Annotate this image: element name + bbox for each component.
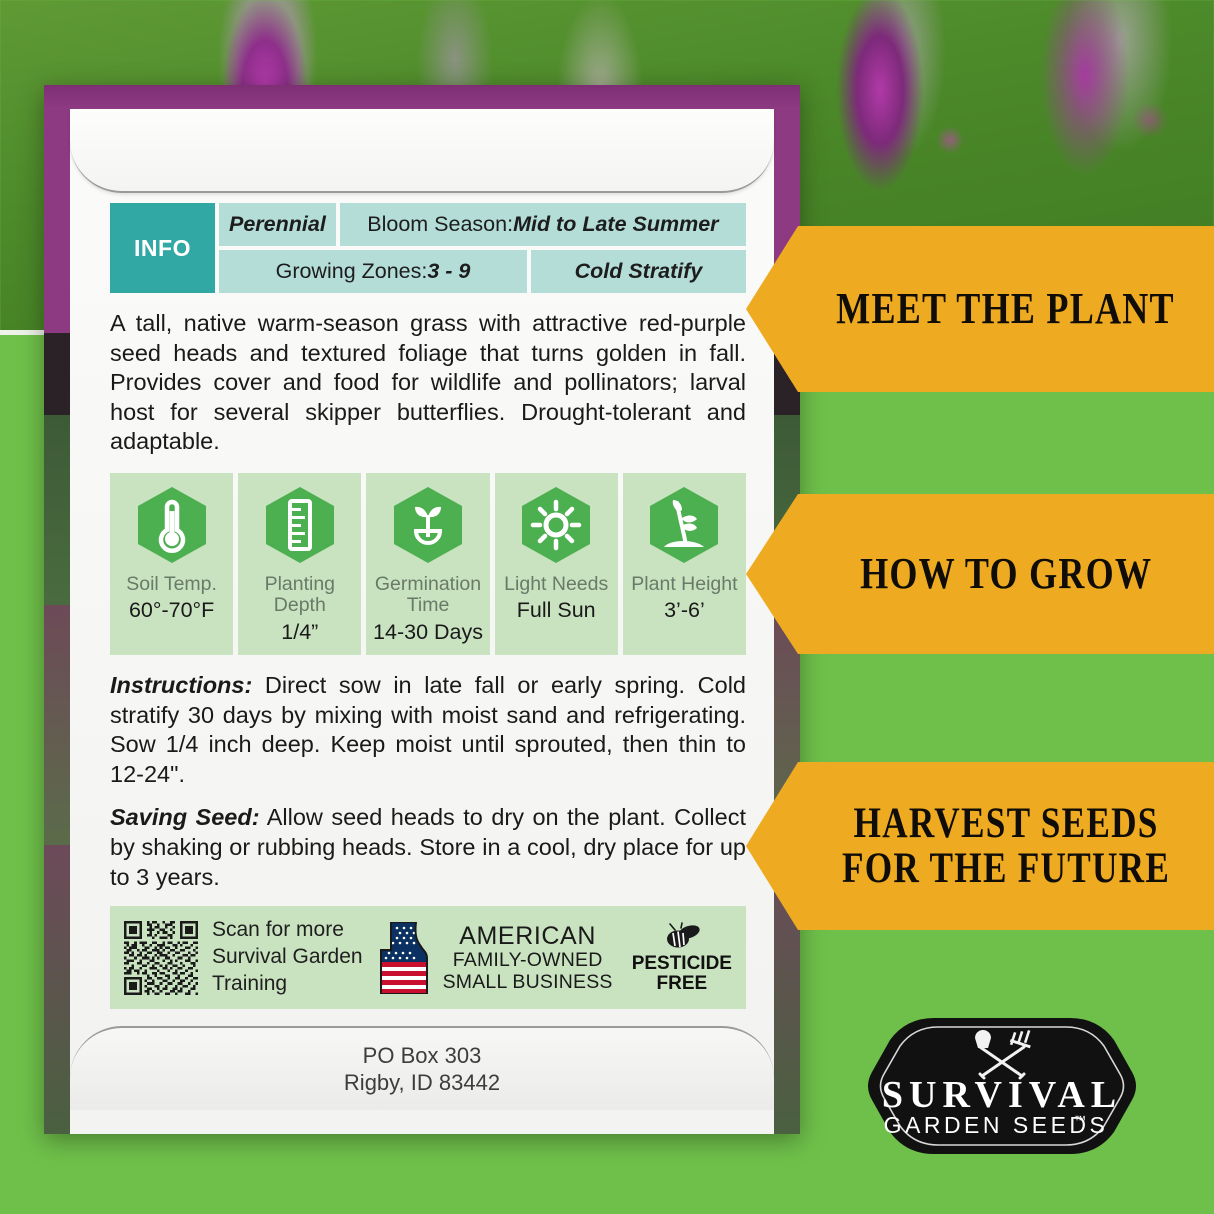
callout-meet-the-plant: MEET THE PLANT bbox=[798, 226, 1214, 392]
grow-cell-light-needs: Light Needs Full Sun bbox=[495, 473, 618, 655]
grow-cell-germination: Germination Time 14-30 Days bbox=[366, 473, 489, 655]
grow-value-plant-height: 3’-6’ bbox=[664, 598, 705, 623]
grow-cell-plant-height: Plant Height 3’-6’ bbox=[623, 473, 746, 655]
instructions-paragraph: Instructions: Direct sow in late fall or… bbox=[110, 671, 746, 789]
survival-garden-seeds-logo: SURVIVAL GARDEN SEEDS ™ bbox=[862, 1014, 1142, 1186]
callout-meet-the-plant-label: MEET THE PLANT bbox=[837, 286, 1176, 332]
saving-seed-lead: Saving Seed: bbox=[110, 804, 260, 830]
plant-height-icon bbox=[646, 485, 722, 565]
sun-icon bbox=[518, 485, 594, 565]
logo-line-1: SURVIVAL bbox=[882, 1074, 1122, 1116]
instructions-lead: Instructions: bbox=[110, 672, 252, 698]
plant-description: A tall, native warm-season grass with at… bbox=[110, 309, 746, 457]
callout-how-to-grow: HOW TO GROW bbox=[798, 494, 1214, 654]
logo-trademark: ™ bbox=[1074, 1113, 1086, 1127]
info-row: Perennial Bloom Season: Mid to Late Summ… bbox=[219, 203, 746, 246]
info-cell-stratify: Cold Stratify bbox=[531, 250, 746, 293]
packet-top-flap bbox=[70, 109, 774, 193]
grow-label-light-needs: Light Needs bbox=[504, 574, 608, 595]
american-line-1: AMERICAN bbox=[443, 922, 613, 950]
packet-left-photo-edge bbox=[44, 85, 70, 1134]
trust-badge-strip: Scan for more Survival Garden Training bbox=[110, 906, 746, 1009]
info-value-bloom-season: Mid to Late Summer bbox=[513, 212, 718, 237]
info-label-bloom-season: Bloom Season: bbox=[367, 212, 513, 237]
callout-arrow-tip bbox=[746, 494, 798, 654]
american-line-3: SMALL BUSINESS bbox=[443, 972, 613, 994]
bee-icon bbox=[659, 922, 705, 952]
grow-label-plant-height: Plant Height bbox=[631, 574, 737, 595]
qr-code-icon[interactable] bbox=[124, 921, 198, 995]
callout-arrow-tip bbox=[746, 762, 798, 930]
callout-harvest-seeds-label: HARVEST SEEDS FOR THE FUTURE bbox=[842, 801, 1170, 891]
pesticide-line-1: PESTICIDE bbox=[632, 954, 732, 974]
callout-harvest-seeds: HARVEST SEEDS FOR THE FUTURE bbox=[798, 762, 1214, 930]
seed-packet: INFO Perennial Bloom Season: Mid to Late… bbox=[44, 85, 800, 1134]
grow-cell-soil-temp: Soil Temp. 60°-70°F bbox=[110, 473, 233, 655]
info-badge: INFO bbox=[110, 203, 215, 293]
growing-requirements-strip: Soil Temp. 60°-70°F Planting Depth bbox=[110, 473, 746, 655]
info-value-stratify: Cold Stratify bbox=[575, 259, 703, 284]
idaho-flag-icon bbox=[377, 922, 429, 994]
grow-label-planting-depth: Planting Depth bbox=[242, 574, 357, 617]
grow-label-soil-temp: Soil Temp. bbox=[126, 574, 217, 595]
info-label-growing-zones: Growing Zones: bbox=[276, 259, 428, 284]
info-cell-growing-zones: Growing Zones: 3 - 9 bbox=[219, 250, 527, 293]
info-row: Growing Zones: 3 - 9 Cold Stratify bbox=[219, 250, 746, 293]
grow-value-light-needs: Full Sun bbox=[517, 598, 596, 623]
info-cell-lifecycle: Perennial bbox=[219, 203, 336, 246]
info-cell-bloom-season: Bloom Season: Mid to Late Summer bbox=[340, 203, 746, 246]
grow-value-soil-temp: 60°-70°F bbox=[129, 598, 214, 623]
grow-value-germination: 14-30 Days bbox=[373, 620, 483, 645]
address-line-2: Rigby, ID 83442 bbox=[344, 1069, 500, 1097]
packet-bottom-flap: PO Box 303 Rigby, ID 83442 bbox=[70, 1026, 774, 1110]
thermometer-icon bbox=[134, 485, 210, 565]
address-line-1: PO Box 303 bbox=[363, 1042, 482, 1070]
packet-top-purple-band bbox=[44, 85, 800, 109]
ruler-icon bbox=[262, 485, 338, 565]
grow-value-planting-depth: 1/4” bbox=[281, 620, 318, 645]
info-value-growing-zones: 3 - 9 bbox=[427, 259, 470, 284]
qr-code-label: Scan for more Survival Garden Training bbox=[212, 917, 363, 998]
saving-seed-paragraph: Saving Seed: Allow seed heads to dry on … bbox=[110, 803, 746, 892]
info-value-lifecycle: Perennial bbox=[229, 212, 326, 237]
american-business-label: AMERICAN FAMILY-OWNED SMALL BUSINESS bbox=[443, 922, 613, 994]
grow-cell-planting-depth: Planting Depth 1/4” bbox=[238, 473, 361, 655]
pesticide-line-2: FREE bbox=[632, 974, 732, 994]
grow-label-germination: Germination Time bbox=[370, 574, 485, 617]
callout-how-to-grow-label: HOW TO GROW bbox=[860, 551, 1152, 597]
info-rows: Perennial Bloom Season: Mid to Late Summ… bbox=[219, 203, 746, 293]
pesticide-free-badge: PESTICIDE FREE bbox=[632, 922, 732, 994]
sprout-icon bbox=[390, 485, 466, 565]
callout-arrow-tip bbox=[746, 226, 798, 392]
packet-content: INFO Perennial Bloom Season: Mid to Late… bbox=[110, 203, 746, 1009]
info-table: INFO Perennial Bloom Season: Mid to Late… bbox=[110, 203, 746, 293]
american-line-2: FAMILY-OWNED bbox=[443, 950, 613, 972]
